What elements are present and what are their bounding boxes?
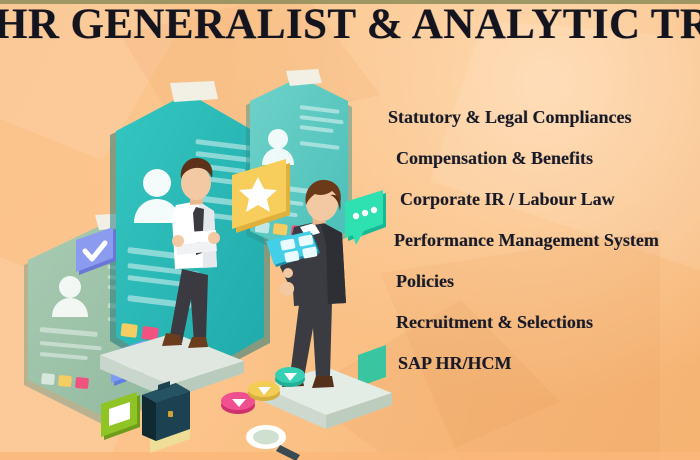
hr-illustration: [0, 55, 400, 460]
list-item: Statutory & Legal Compliances: [384, 105, 694, 146]
puck-yellow: [248, 381, 280, 401]
page-title: HR GENERALIST & ANALYTIC TRAINING: [0, 2, 700, 48]
list-item: Performance Management System: [384, 228, 694, 269]
list-item: Compensation & Benefits: [384, 146, 694, 187]
hr-training-banner: HR GENERALIST & ANALYTIC TRAINING Statut…: [0, 0, 700, 460]
magnifier-icon: [246, 425, 300, 460]
list-item: Recruitment & Selections: [384, 310, 694, 351]
list-item: Policies: [384, 269, 694, 310]
card-teal-small: [358, 345, 386, 387]
topic-list: Statutory & Legal Compliances Compensati…: [384, 105, 694, 392]
list-item: Corporate IR / Labour Law: [384, 187, 694, 228]
list-item: SAP HR/HCM: [384, 351, 694, 392]
puck-teal: [275, 367, 305, 387]
